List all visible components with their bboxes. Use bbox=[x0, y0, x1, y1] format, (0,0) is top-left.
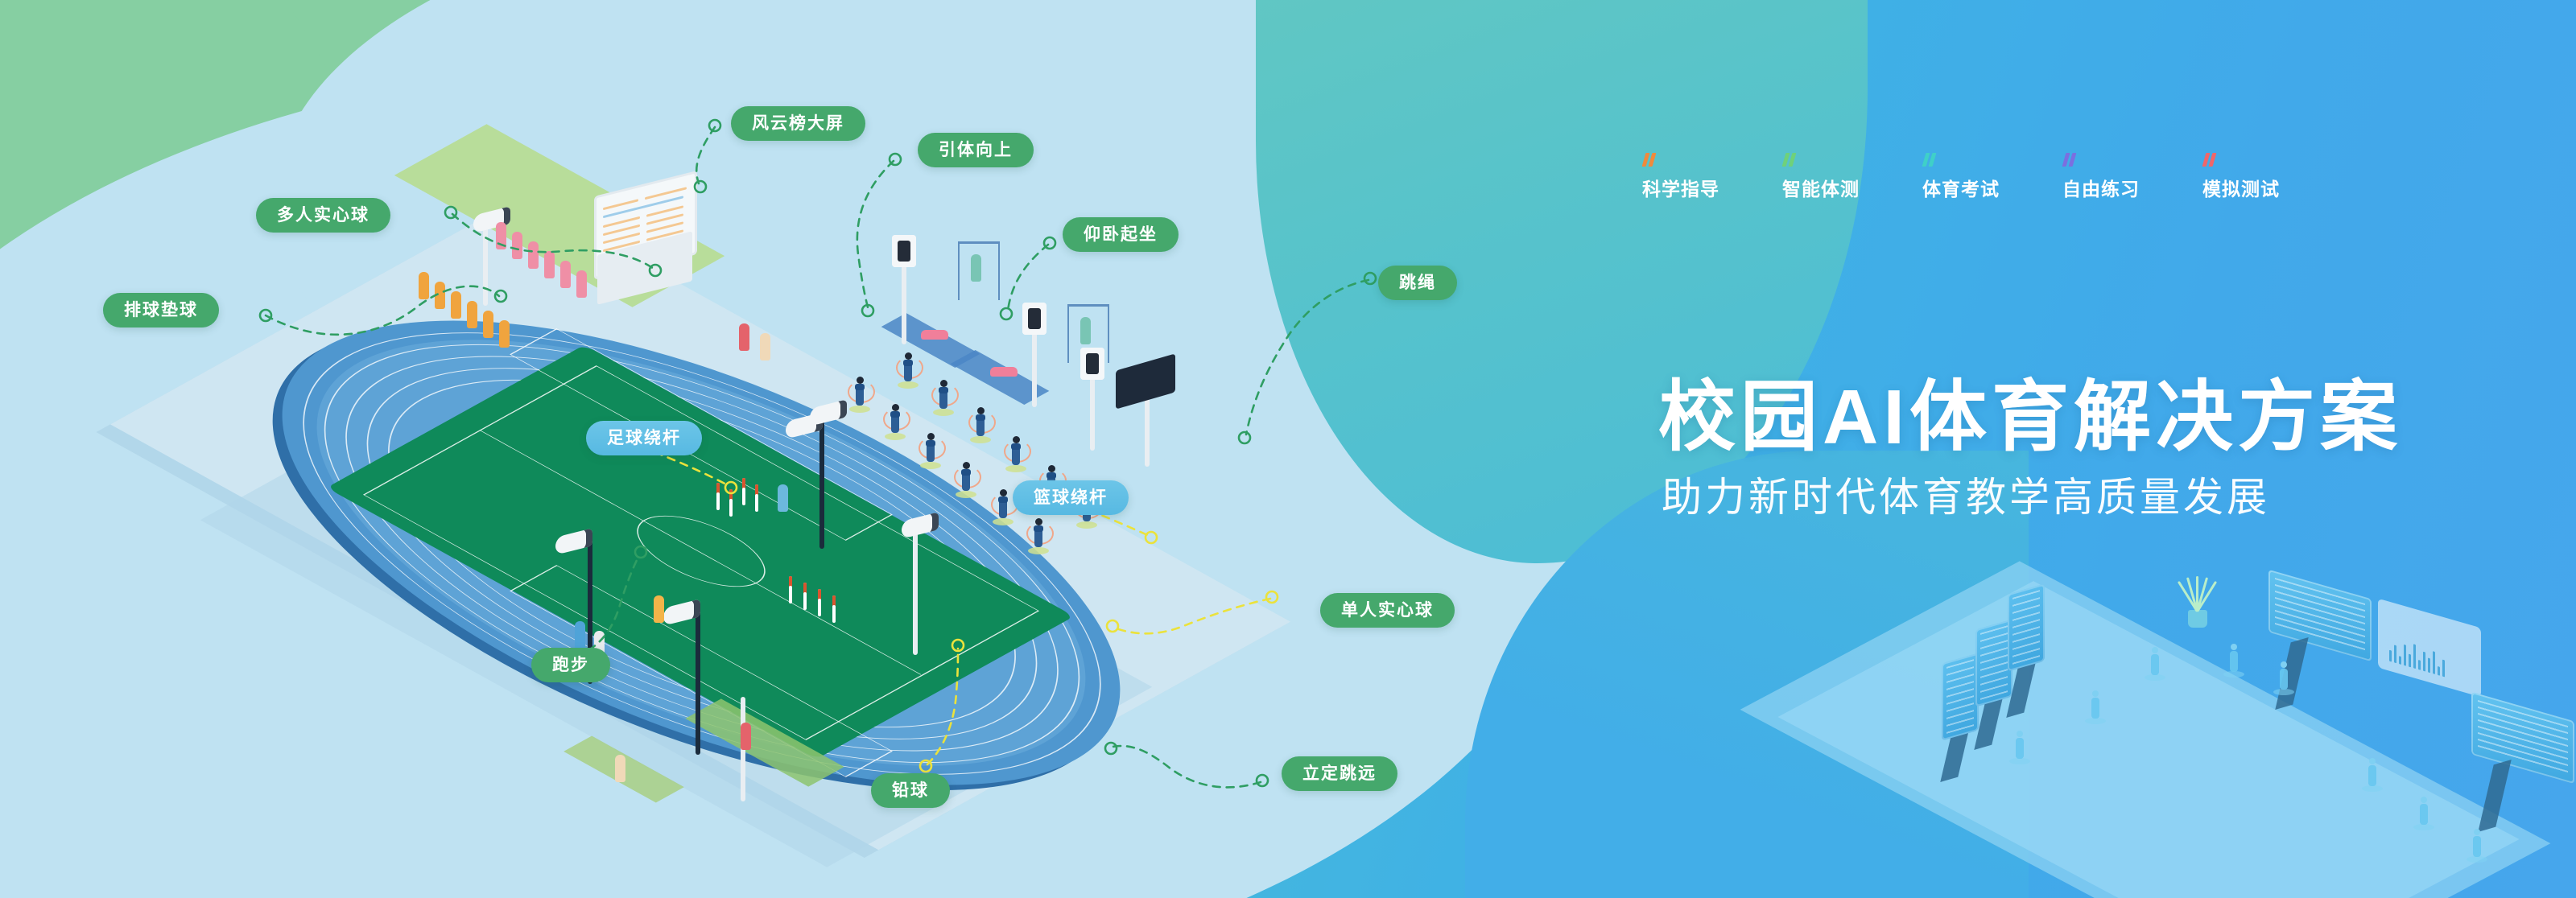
double-slash-icon bbox=[1784, 153, 1794, 167]
sit-up-athlete bbox=[921, 330, 948, 340]
slalom-pole bbox=[729, 489, 733, 517]
label-pill[interactable]: 跑步 bbox=[531, 648, 610, 682]
slalom-pole bbox=[755, 484, 758, 512]
slalom-pole bbox=[803, 583, 807, 610]
slalom-pole bbox=[789, 576, 792, 603]
label-pill[interactable]: 足球绕杆 bbox=[586, 421, 702, 455]
camera-pole bbox=[1090, 377, 1095, 451]
potted-plant bbox=[2173, 563, 2222, 628]
gym-person-figure bbox=[2418, 797, 2429, 827]
double-slash-icon bbox=[2204, 153, 2215, 167]
indoor-gym-illustration bbox=[1908, 555, 2576, 898]
hero-banner: 排球垫球 多人实心球 风云榜大屏 引体向上 仰卧起坐 跳绳 足球绕杆 篮球绕杆 … bbox=[0, 0, 2576, 898]
slalom-pole bbox=[742, 478, 745, 505]
feature-item-tiyu-kaoshi[interactable]: 体育考试 bbox=[1922, 153, 2000, 201]
camera-pole bbox=[1032, 332, 1037, 407]
jump-rope-person bbox=[889, 404, 902, 436]
jump-rope-person bbox=[924, 433, 937, 465]
label-pill[interactable]: 单人实心球 bbox=[1320, 593, 1455, 628]
label-pill-text: 跳绳 bbox=[1399, 274, 1436, 291]
jump-rope-person bbox=[997, 489, 1009, 521]
runner-figure bbox=[575, 621, 585, 649]
sit-up-athlete bbox=[990, 367, 1018, 377]
label-pill-text: 多人实心球 bbox=[277, 207, 369, 224]
gym-person-figure bbox=[2367, 758, 2378, 789]
pull-up-athlete bbox=[1080, 317, 1091, 344]
double-slash-icon bbox=[2064, 153, 2074, 167]
volleyball-student bbox=[451, 291, 461, 319]
label-pill[interactable]: 铅球 bbox=[871, 773, 950, 808]
double-slash-icon bbox=[1924, 153, 1934, 167]
volleyball-student bbox=[560, 261, 571, 288]
feature-item-kexue-zhidao[interactable]: 科学指导 bbox=[1642, 153, 1719, 201]
volleyball-student bbox=[419, 272, 429, 299]
slalom-pole bbox=[818, 589, 821, 616]
isometric-sports-field bbox=[338, 121, 1352, 781]
athlete-figure bbox=[741, 723, 751, 750]
page-subtitle: 助力新时代体育教学高质量发展 bbox=[1662, 465, 2270, 523]
label-pill[interactable]: 风云榜大屏 bbox=[731, 106, 865, 141]
volleyball-student bbox=[499, 320, 510, 348]
label-pill[interactable]: 篮球绕杆 bbox=[1013, 480, 1129, 515]
info-kiosk bbox=[2008, 583, 2045, 671]
jump-rope-person bbox=[1032, 518, 1045, 550]
feature-item-moni-ceshi[interactable]: 模拟测试 bbox=[2202, 153, 2280, 201]
label-pill[interactable]: 排球垫球 bbox=[103, 293, 219, 327]
wall-display-screen bbox=[2268, 570, 2372, 662]
volleyball-student bbox=[576, 270, 587, 298]
soccer-player-figure bbox=[778, 484, 788, 512]
gym-person-figure bbox=[2090, 690, 2101, 721]
label-pill-text: 仰卧起坐 bbox=[1084, 226, 1158, 243]
feature-label: 自由练习 bbox=[2062, 174, 2140, 201]
feature-item-ziyou-lianxi[interactable]: 自由练习 bbox=[2062, 153, 2140, 201]
label-pill[interactable]: 跳绳 bbox=[1378, 266, 1457, 300]
gym-person-figure bbox=[2278, 661, 2289, 692]
jump-rope-person bbox=[960, 462, 972, 494]
leaderboard-display bbox=[594, 183, 697, 267]
double-slash-icon bbox=[1644, 153, 1654, 167]
label-pill-text: 单人实心球 bbox=[1341, 602, 1434, 619]
label-pill[interactable]: 仰卧起坐 bbox=[1063, 217, 1179, 252]
plant-pot bbox=[2188, 610, 2207, 628]
feature-label: 智能体测 bbox=[1782, 174, 1860, 201]
ai-terminal-screen bbox=[892, 235, 916, 267]
volleyball-student bbox=[528, 241, 539, 269]
volleyball-student bbox=[483, 311, 493, 338]
label-pill-text: 铅球 bbox=[892, 782, 929, 799]
athlete-figure bbox=[615, 755, 625, 782]
label-pill-text: 足球绕杆 bbox=[607, 430, 681, 447]
gym-person-figure bbox=[2228, 644, 2240, 674]
volleyball-student bbox=[496, 222, 506, 249]
volleyball-student bbox=[467, 301, 477, 328]
feature-item-zhineng-ceti[interactable]: 智能体测 bbox=[1782, 153, 1860, 201]
jump-rope-person bbox=[902, 352, 914, 385]
label-pill[interactable]: 引体向上 bbox=[918, 133, 1034, 167]
feature-list: 科学指导 智能体测 体育考试 自由练习 模拟测试 bbox=[1642, 153, 2280, 201]
feature-label: 模拟测试 bbox=[2202, 174, 2280, 201]
volleyball-student bbox=[544, 251, 555, 278]
camera-pole bbox=[902, 264, 906, 344]
camera-pole bbox=[696, 610, 700, 755]
dashboard-bars bbox=[2389, 637, 2445, 678]
gym-person-figure bbox=[2149, 647, 2161, 678]
label-pill[interactable]: 多人实心球 bbox=[256, 198, 390, 233]
basketball-player-figure bbox=[654, 595, 664, 623]
gym-person-figure bbox=[2014, 731, 2025, 761]
volleyball-student bbox=[512, 232, 522, 259]
jump-rope-person bbox=[937, 380, 950, 412]
wall-display-screen bbox=[2471, 692, 2574, 785]
ai-terminal-screen bbox=[1022, 303, 1046, 335]
label-pill-text: 排球垫球 bbox=[124, 302, 198, 319]
label-pill-text: 跑步 bbox=[552, 657, 589, 673]
jump-rope-person bbox=[1009, 436, 1022, 468]
jump-rope-person bbox=[853, 377, 866, 409]
label-pill[interactable]: 立定跳远 bbox=[1282, 756, 1397, 791]
label-pill-text: 篮球绕杆 bbox=[1034, 489, 1108, 506]
gym-person-figure bbox=[2471, 829, 2483, 859]
runner-figure bbox=[760, 333, 770, 360]
info-kiosk bbox=[1942, 653, 1979, 740]
camera-pole bbox=[819, 420, 824, 549]
feature-label: 体育考试 bbox=[1922, 174, 2000, 201]
volleyball-student bbox=[435, 282, 445, 309]
pull-up-athlete bbox=[971, 254, 981, 282]
jump-rope-person bbox=[974, 407, 987, 439]
label-pill-text: 引体向上 bbox=[939, 142, 1013, 159]
slalom-pole bbox=[716, 483, 720, 510]
runner-figure bbox=[739, 323, 749, 351]
label-pill-text: 立定跳远 bbox=[1302, 765, 1377, 782]
page-title: 校园AI体育解决方案 bbox=[1658, 354, 2402, 466]
camera-pole bbox=[913, 521, 918, 655]
slalom-pole bbox=[832, 595, 836, 623]
label-pill-text: 风云榜大屏 bbox=[752, 115, 844, 132]
feature-label: 科学指导 bbox=[1642, 174, 1719, 201]
dashboard-panel bbox=[2378, 599, 2481, 698]
